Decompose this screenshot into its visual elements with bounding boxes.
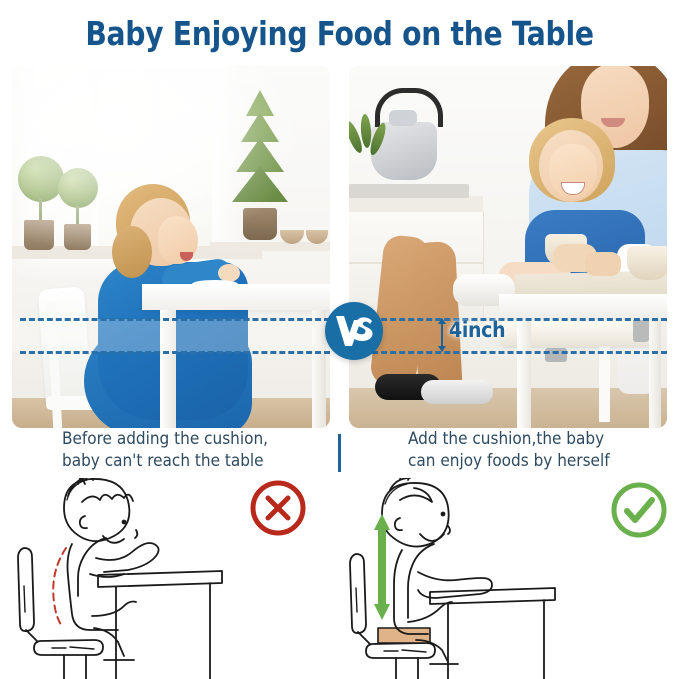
measurement-arrow-down <box>438 346 446 352</box>
check-circle-icon <box>608 479 670 541</box>
after-photo: 4inch <box>349 66 667 428</box>
mother-hand <box>585 252 621 276</box>
green-plant <box>349 110 395 170</box>
after-caption: Add the cushion,the baby can enjoy foods… <box>408 428 679 472</box>
table-leg <box>517 320 531 428</box>
caption-divider <box>338 434 341 472</box>
measurement-line-top <box>20 318 330 321</box>
tea-cup <box>627 246 667 280</box>
measurement-arrow-up <box>438 318 446 324</box>
measurement-label: 4inch <box>449 318 505 342</box>
after-caption-line2: can enjoy foods by herself <box>408 450 679 472</box>
measurement-line-bottom <box>349 351 667 354</box>
dining-table-top <box>142 284 330 310</box>
cross-circle-icon <box>247 477 309 539</box>
before-caption-line1: Before adding the cushion, <box>62 428 342 450</box>
vs-badge <box>325 302 383 360</box>
mother-shoe <box>421 380 493 404</box>
before-caption-line2: baby can't reach the table <box>62 450 342 472</box>
comparison-photo-row: 4inch <box>0 66 679 428</box>
measurement-band <box>12 319 330 352</box>
before-photo <box>12 66 330 428</box>
table-leg <box>649 320 661 428</box>
measurement-line-top <box>349 318 667 321</box>
after-caption-line1: Add the cushion,the baby <box>408 428 679 450</box>
girl-hair-back <box>112 226 152 278</box>
product-infographic: Baby Enjoying Food on the Table <box>0 0 679 679</box>
kitchen-counter <box>349 196 483 212</box>
before-caption: Before adding the cushion, baby can't re… <box>62 428 342 472</box>
plate <box>192 280 238 288</box>
measurement-line-bottom <box>20 351 330 354</box>
measurement-arrow-shaft <box>441 322 443 348</box>
page-title: Baby Enjoying Food on the Table <box>17 14 662 53</box>
dining-table-top <box>499 294 667 320</box>
stove-top <box>349 184 469 198</box>
